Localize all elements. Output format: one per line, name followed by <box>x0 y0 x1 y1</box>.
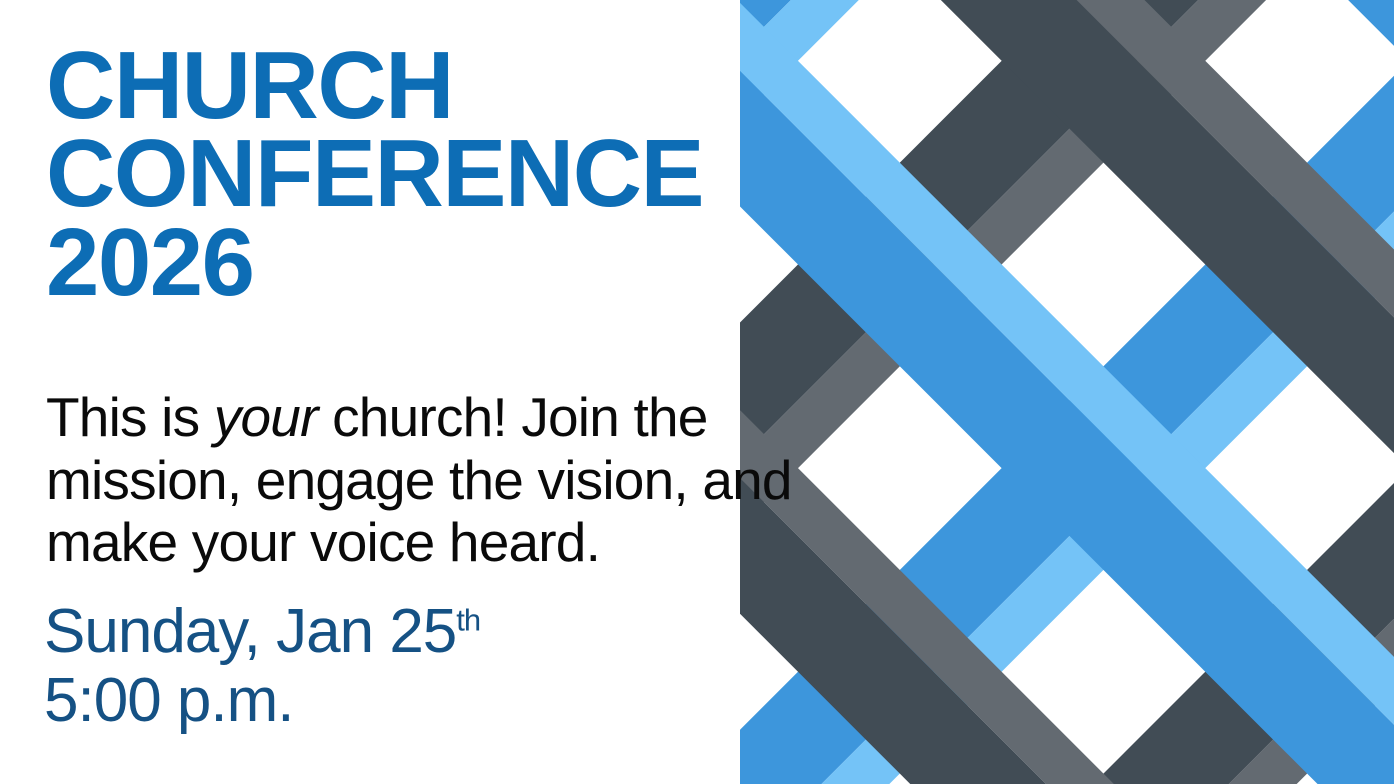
text-content-column: CHURCH CONFERENCE 2026 This is your chur… <box>0 0 800 784</box>
event-date-line: Sunday, Jan 25th <box>44 597 804 666</box>
event-time: 5:00 p.m. <box>44 666 804 735</box>
body-copy-lead: This is <box>46 386 214 448</box>
body-copy: This is your church! Join the mission, e… <box>46 386 806 574</box>
body-copy-emphasis: your <box>214 386 318 448</box>
ordinal-suffix: th <box>456 602 480 637</box>
conference-announcement-slide: CHURCH CONFERENCE 2026 This is your chur… <box>0 0 1394 784</box>
pattern-svg <box>740 0 1394 784</box>
page-title: CHURCH CONFERENCE 2026 <box>46 42 806 307</box>
event-date: Sunday, Jan 25 <box>44 597 456 666</box>
diagonal-x-band-pattern-decoration <box>740 0 1394 784</box>
event-datetime: Sunday, Jan 25th5:00 p.m. <box>44 597 804 736</box>
